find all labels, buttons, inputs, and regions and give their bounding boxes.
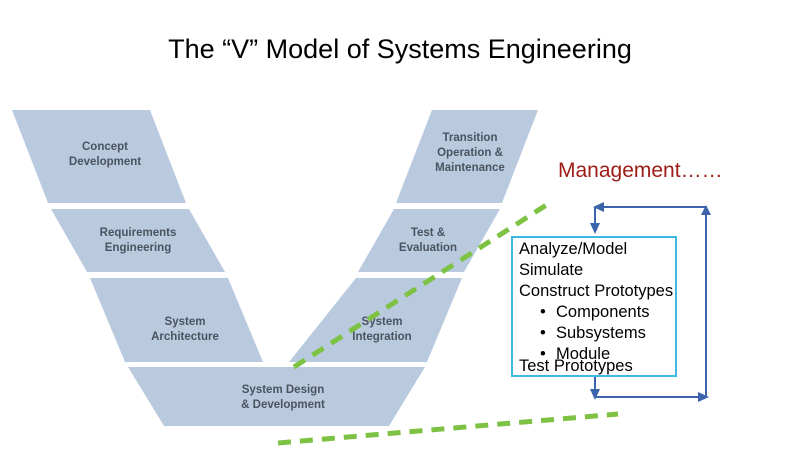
label-test-evaluation-line1: Test & [411, 227, 445, 239]
label-requirements-engineering-line1: Requirements [100, 227, 177, 239]
label-concept-development-line2: Development [69, 156, 141, 168]
slide-canvas: The “V” Model of Systems Engineering Con… [0, 0, 800, 450]
label-requirements-engineering-line2: Engineering [105, 242, 171, 254]
management-label: Management…… [558, 159, 723, 182]
callout-line-construct-prototypes: Construct Prototypes [519, 282, 673, 300]
label-transition-line3: Maintenance [435, 162, 505, 174]
label-test-evaluation-line2: Evaluation [399, 242, 457, 254]
label-system-architecture-line2: Architecture [151, 331, 219, 343]
callout-bullet-glyph-subsystems: • [540, 324, 546, 342]
arrowhead-bottom-left-pointing-down [590, 389, 600, 400]
segment-system-design-development[interactable] [128, 367, 425, 426]
v-model-diagram: Concept Development Requirements Enginee… [0, 0, 800, 450]
label-system-architecture-line1: System [165, 316, 206, 328]
callout-line-analyze-model: Analyze/Model [519, 240, 627, 258]
label-system-design-line1: System Design [242, 384, 324, 396]
label-transition-line2: Operation & [437, 147, 503, 159]
arrowhead-into-box-top [590, 223, 600, 234]
segment-requirements-engineering[interactable] [51, 209, 225, 272]
segment-test-evaluation[interactable] [358, 209, 500, 272]
callout-line-test-prototypes: Test Prototypes [519, 357, 633, 375]
callout-bullet-components: Components [556, 303, 650, 321]
arrowhead-bottom-right-pointing-right [698, 392, 709, 402]
callout-bullet-glyph-components: • [540, 303, 546, 321]
callout-bullet-subsystems: Subsystems [556, 324, 646, 342]
label-system-integration-line2: Integration [352, 331, 411, 343]
callout-line-simulate: Simulate [519, 261, 583, 279]
label-concept-development-line1: Concept [82, 141, 128, 153]
label-transition-line1: Transition [443, 132, 498, 144]
label-system-design-line2: & Development [241, 399, 325, 411]
